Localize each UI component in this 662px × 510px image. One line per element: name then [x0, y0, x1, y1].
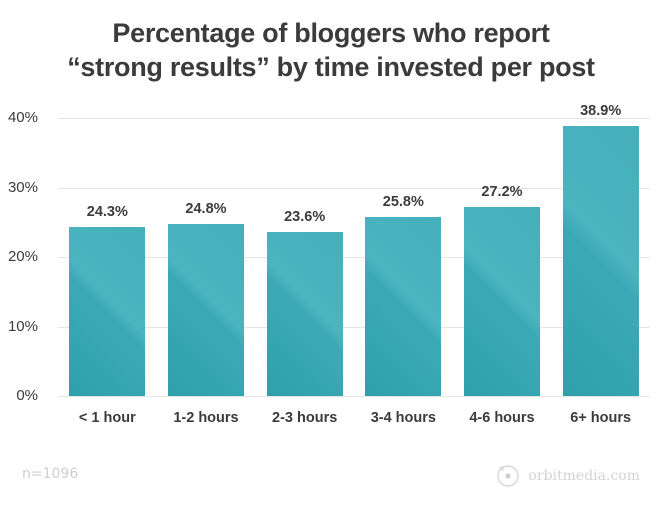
- bar-group: 24.8%1-2 hours: [157, 118, 256, 396]
- brand-name: orbitmedia.com: [528, 468, 640, 484]
- y-axis-tick-label: 30%: [0, 179, 38, 196]
- bar[interactable]: [168, 224, 244, 396]
- bar-value-label: 23.6%: [255, 209, 354, 225]
- bar-group: 38.9%6+ hours: [551, 118, 650, 396]
- bar-group: 24.3%< 1 hour: [58, 118, 157, 396]
- chart-container: Percentage of bloggers who report “stron…: [0, 0, 662, 510]
- bar-value-label: 25.8%: [354, 194, 453, 210]
- bar[interactable]: [464, 207, 540, 396]
- bar-group: 27.2%4-6 hours: [453, 118, 552, 396]
- bar-value-label: 27.2%: [453, 184, 552, 200]
- x-axis-category-label: < 1 hour: [58, 410, 157, 426]
- x-axis-category-label: 1-2 hours: [157, 410, 256, 426]
- bar-value-label: 24.8%: [157, 201, 256, 217]
- y-axis-tick-label: 20%: [0, 248, 38, 265]
- sample-size-note: n=1096: [22, 466, 78, 482]
- x-axis-category-label: 6+ hours: [551, 410, 650, 426]
- bars-group: 24.3%< 1 hour24.8%1-2 hours23.6%2-3 hour…: [58, 118, 650, 396]
- bar-value-label: 38.9%: [551, 103, 650, 119]
- y-axis-tick-label: 40%: [0, 109, 38, 126]
- orbit-logo-icon: [495, 463, 521, 489]
- bar[interactable]: [563, 126, 639, 396]
- x-axis-category-label: 2-3 hours: [255, 410, 354, 426]
- bar[interactable]: [365, 217, 441, 396]
- bar-group: 23.6%2-3 hours: [255, 118, 354, 396]
- y-axis-tick-label: 10%: [0, 318, 38, 335]
- x-axis-category-label: 4-6 hours: [453, 410, 552, 426]
- plot-area: 0%10%20%30%40% 24.3%< 1 hour24.8%1-2 hou…: [58, 118, 650, 396]
- page-title: Percentage of bloggers who report “stron…: [0, 16, 662, 84]
- bar[interactable]: [267, 232, 343, 396]
- bar[interactable]: [69, 227, 145, 396]
- y-axis-tick-label: 0%: [0, 387, 38, 404]
- x-axis-category-label: 3-4 hours: [354, 410, 453, 426]
- bar-group: 25.8%3-4 hours: [354, 118, 453, 396]
- brand-watermark: orbitmedia.com: [495, 463, 640, 489]
- bar-value-label: 24.3%: [58, 204, 157, 220]
- title-line-1: Percentage of bloggers who report: [0, 16, 662, 50]
- title-line-2: “strong results” by time invested per po…: [0, 50, 662, 84]
- gridline-0pct: [58, 396, 650, 397]
